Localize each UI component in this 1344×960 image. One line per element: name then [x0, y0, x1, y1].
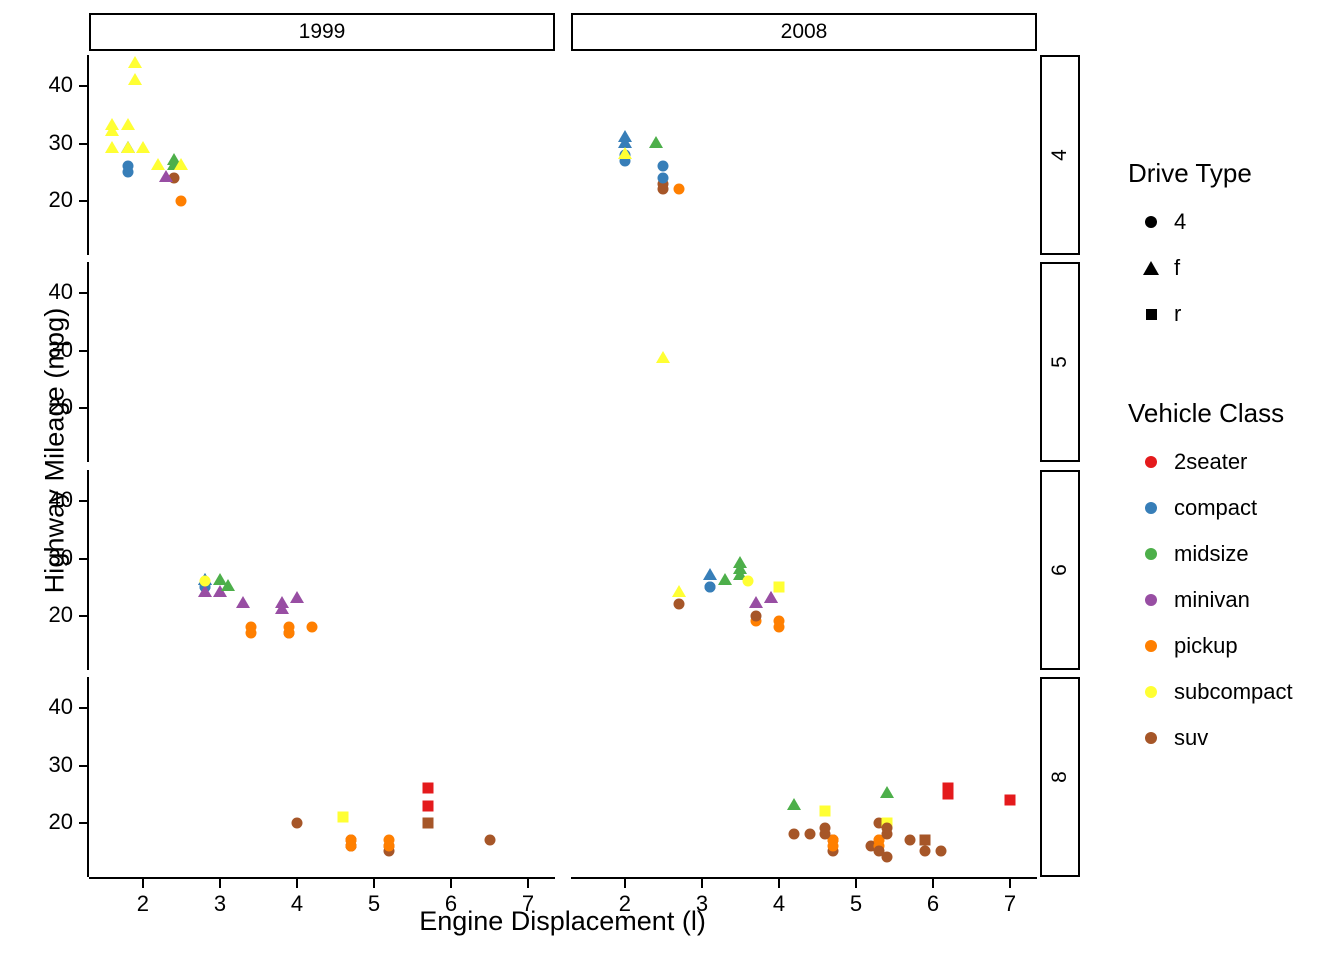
y-tick-label: 20 — [11, 602, 73, 628]
panel-2008-8cyl — [571, 677, 1037, 877]
data-point — [136, 141, 150, 153]
y-tick-label: 20 — [11, 394, 73, 420]
data-point — [618, 136, 632, 148]
y-tick — [79, 765, 87, 767]
legend-item-label: r — [1174, 301, 1181, 327]
facet-row-label: 5 — [1048, 356, 1072, 368]
x-tick — [624, 879, 626, 888]
x-tick — [701, 879, 703, 888]
legend-key — [1128, 732, 1174, 744]
x-tick-label: 2 — [600, 891, 650, 917]
facet-row-strip-6cyl: 6 — [1040, 470, 1080, 670]
data-point — [384, 834, 395, 845]
legend-item-label: 2seater — [1174, 449, 1247, 475]
y-axis-line — [87, 262, 89, 462]
legend-key — [1128, 640, 1174, 652]
data-point — [422, 817, 433, 828]
facet-col-strip-1999: 1999 — [89, 13, 555, 51]
y-tick-label: 30 — [11, 130, 73, 156]
y-tick — [79, 200, 87, 202]
data-point — [789, 829, 800, 840]
data-point — [284, 627, 295, 638]
legend-item-drive-r[interactable]: r — [1128, 291, 1252, 337]
data-point — [122, 167, 133, 178]
data-point — [1005, 794, 1016, 805]
data-point — [291, 817, 302, 828]
data-point — [159, 170, 173, 182]
legend-key — [1128, 456, 1174, 468]
data-point — [121, 141, 135, 153]
x-tick — [296, 879, 298, 888]
y-tick — [79, 615, 87, 617]
y-tick-label: 40 — [11, 694, 73, 720]
circle-icon — [1145, 456, 1157, 468]
circle-icon — [1145, 640, 1157, 652]
circle-icon — [1145, 594, 1157, 606]
data-point — [920, 834, 931, 845]
x-tick-label: 7 — [503, 891, 553, 917]
facet-row-label: 6 — [1048, 564, 1072, 576]
legend-vehicle-class: Vehicle Class 2seatercompactmidsizeminiv… — [1128, 398, 1293, 761]
facet-col-strip-2008: 2008 — [571, 13, 1037, 51]
y-tick — [79, 292, 87, 294]
legend-item-class-2seater[interactable]: 2seater — [1128, 439, 1293, 485]
legend-item-label: f — [1174, 255, 1180, 281]
data-point — [881, 852, 892, 863]
y-axis-line — [87, 677, 89, 877]
y-tick-label: 40 — [11, 487, 73, 513]
legend-item-drive-4[interactable]: 4 — [1128, 199, 1252, 245]
y-axis-title: Highway Mileage (mpg) — [40, 171, 71, 731]
legend-drive-type: Drive Type 4fr — [1128, 158, 1252, 337]
panel-1999-5cyl — [89, 262, 555, 462]
circle-icon — [1145, 502, 1157, 514]
legend-key — [1128, 686, 1174, 698]
data-point — [618, 147, 632, 159]
y-tick — [79, 500, 87, 502]
x-axis-line — [89, 877, 555, 879]
circle-icon — [1145, 732, 1157, 744]
x-tick-label: 2 — [118, 891, 168, 917]
y-tick-label: 30 — [11, 545, 73, 571]
x-axis-line — [571, 877, 1037, 879]
legend-item-class-suv[interactable]: suv — [1128, 715, 1293, 761]
data-point — [743, 576, 754, 587]
data-point — [658, 161, 669, 172]
x-tick — [527, 879, 529, 888]
data-point — [176, 195, 187, 206]
x-tick — [450, 879, 452, 888]
panel-2008-4cyl — [571, 55, 1037, 255]
facet-col-label: 1999 — [299, 20, 346, 44]
y-tick — [79, 707, 87, 709]
x-tick — [219, 879, 221, 888]
x-tick-label: 5 — [349, 891, 399, 917]
data-point — [151, 158, 165, 170]
legend-vehicle-class-items: 2seatercompactmidsizeminivanpickupsubcom… — [1128, 439, 1293, 761]
x-tick — [778, 879, 780, 888]
data-point — [121, 118, 135, 130]
chart-plot-root: Highway Mileage (mpg) Engine Displacemen… — [0, 0, 1344, 960]
data-point — [658, 184, 669, 195]
legend-item-label: pickup — [1174, 633, 1238, 659]
y-tick-label: 30 — [11, 337, 73, 363]
panel-2008-6cyl — [571, 470, 1037, 670]
data-point — [338, 812, 349, 823]
x-tick-label: 4 — [272, 891, 322, 917]
data-point — [880, 786, 894, 798]
data-point — [820, 823, 831, 834]
data-point — [422, 783, 433, 794]
data-point — [307, 622, 318, 633]
legend-item-class-compact[interactable]: compact — [1128, 485, 1293, 531]
x-tick — [142, 879, 144, 888]
data-point — [672, 585, 686, 597]
data-point — [484, 834, 495, 845]
x-tick-label: 6 — [908, 891, 958, 917]
legend-item-class-pickup[interactable]: pickup — [1128, 623, 1293, 669]
data-point — [935, 846, 946, 857]
data-point — [245, 627, 256, 638]
legend-key — [1128, 594, 1174, 606]
data-point — [236, 596, 250, 608]
data-point — [920, 846, 931, 857]
y-tick — [79, 558, 87, 560]
legend-item-drive-f[interactable]: f — [1128, 245, 1252, 291]
x-tick-label: 3 — [195, 891, 245, 917]
x-tick-label: 3 — [677, 891, 727, 917]
legend-key — [1128, 548, 1174, 560]
data-point — [881, 829, 892, 840]
panel-1999-4cyl — [89, 55, 555, 255]
y-tick — [79, 350, 87, 352]
data-point — [787, 798, 801, 810]
legend-vehicle-class-title: Vehicle Class — [1128, 398, 1293, 429]
data-point — [422, 800, 433, 811]
data-point — [703, 568, 717, 580]
legend-item-class-midsize[interactable]: midsize — [1128, 531, 1293, 577]
data-point — [718, 573, 732, 585]
legend-key — [1128, 502, 1174, 514]
data-point — [345, 834, 356, 845]
x-tick — [1009, 879, 1011, 888]
data-point — [656, 351, 670, 363]
legend-item-class-subcompact[interactable]: subcompact — [1128, 669, 1293, 715]
x-tick — [855, 879, 857, 888]
legend-item-class-minivan[interactable]: minivan — [1128, 577, 1293, 623]
data-point — [704, 582, 715, 593]
panel-1999-6cyl — [89, 470, 555, 670]
data-point — [673, 599, 684, 610]
data-point — [733, 556, 747, 568]
panel-1999-8cyl — [89, 677, 555, 877]
facet-row-label: 4 — [1048, 149, 1072, 161]
y-tick — [79, 822, 87, 824]
circle-icon — [1145, 686, 1157, 698]
y-axis-line — [87, 55, 89, 255]
data-point — [275, 596, 289, 608]
y-tick-label: 20 — [11, 809, 73, 835]
data-point — [904, 834, 915, 845]
legend-item-label: subcompact — [1174, 679, 1293, 705]
data-point — [658, 172, 669, 183]
data-point — [943, 789, 954, 800]
circle-icon — [1145, 548, 1157, 560]
legend-item-label: 4 — [1174, 209, 1186, 235]
y-tick-label: 40 — [11, 279, 73, 305]
facet-col-label: 2008 — [781, 20, 828, 44]
x-tick-label: 4 — [754, 891, 804, 917]
data-point — [749, 596, 763, 608]
x-tick-label: 6 — [426, 891, 476, 917]
y-tick-label: 20 — [11, 187, 73, 213]
x-tick — [932, 879, 934, 888]
data-point — [128, 73, 142, 85]
legend-item-label: suv — [1174, 725, 1208, 751]
data-point — [804, 829, 815, 840]
data-point — [213, 573, 227, 585]
data-point — [750, 610, 761, 621]
data-point — [773, 582, 784, 593]
data-point — [174, 158, 188, 170]
data-point — [773, 622, 784, 633]
data-point — [649, 136, 663, 148]
data-point — [105, 124, 119, 136]
data-point — [673, 184, 684, 195]
legend-item-label: minivan — [1174, 587, 1250, 613]
facet-row-strip-8cyl: 8 — [1040, 677, 1080, 877]
facet-row-label: 8 — [1048, 771, 1072, 783]
legend-key — [1128, 216, 1174, 228]
legend-key — [1128, 261, 1174, 275]
panel-2008-5cyl — [571, 262, 1037, 462]
x-tick-label: 5 — [831, 891, 881, 917]
x-tick — [373, 879, 375, 888]
legend-drive-type-items: 4fr — [1128, 199, 1252, 337]
y-axis-line — [87, 470, 89, 670]
data-point — [199, 576, 210, 587]
y-tick — [79, 85, 87, 87]
square-icon — [1146, 309, 1157, 320]
x-tick-label: 7 — [985, 891, 1035, 917]
circle-icon — [1145, 216, 1157, 228]
facet-row-strip-4cyl: 4 — [1040, 55, 1080, 255]
data-point — [128, 56, 142, 68]
legend-item-label: compact — [1174, 495, 1257, 521]
data-point — [290, 591, 304, 603]
y-tick-label: 30 — [11, 752, 73, 778]
facet-row-strip-5cyl: 5 — [1040, 262, 1080, 462]
y-tick — [79, 143, 87, 145]
y-tick-label: 40 — [11, 72, 73, 98]
legend-item-label: midsize — [1174, 541, 1249, 567]
data-point — [105, 141, 119, 153]
triangle-icon — [1143, 261, 1159, 275]
legend-drive-type-title: Drive Type — [1128, 158, 1252, 189]
y-tick — [79, 407, 87, 409]
legend-key — [1128, 309, 1174, 320]
data-point — [820, 806, 831, 817]
